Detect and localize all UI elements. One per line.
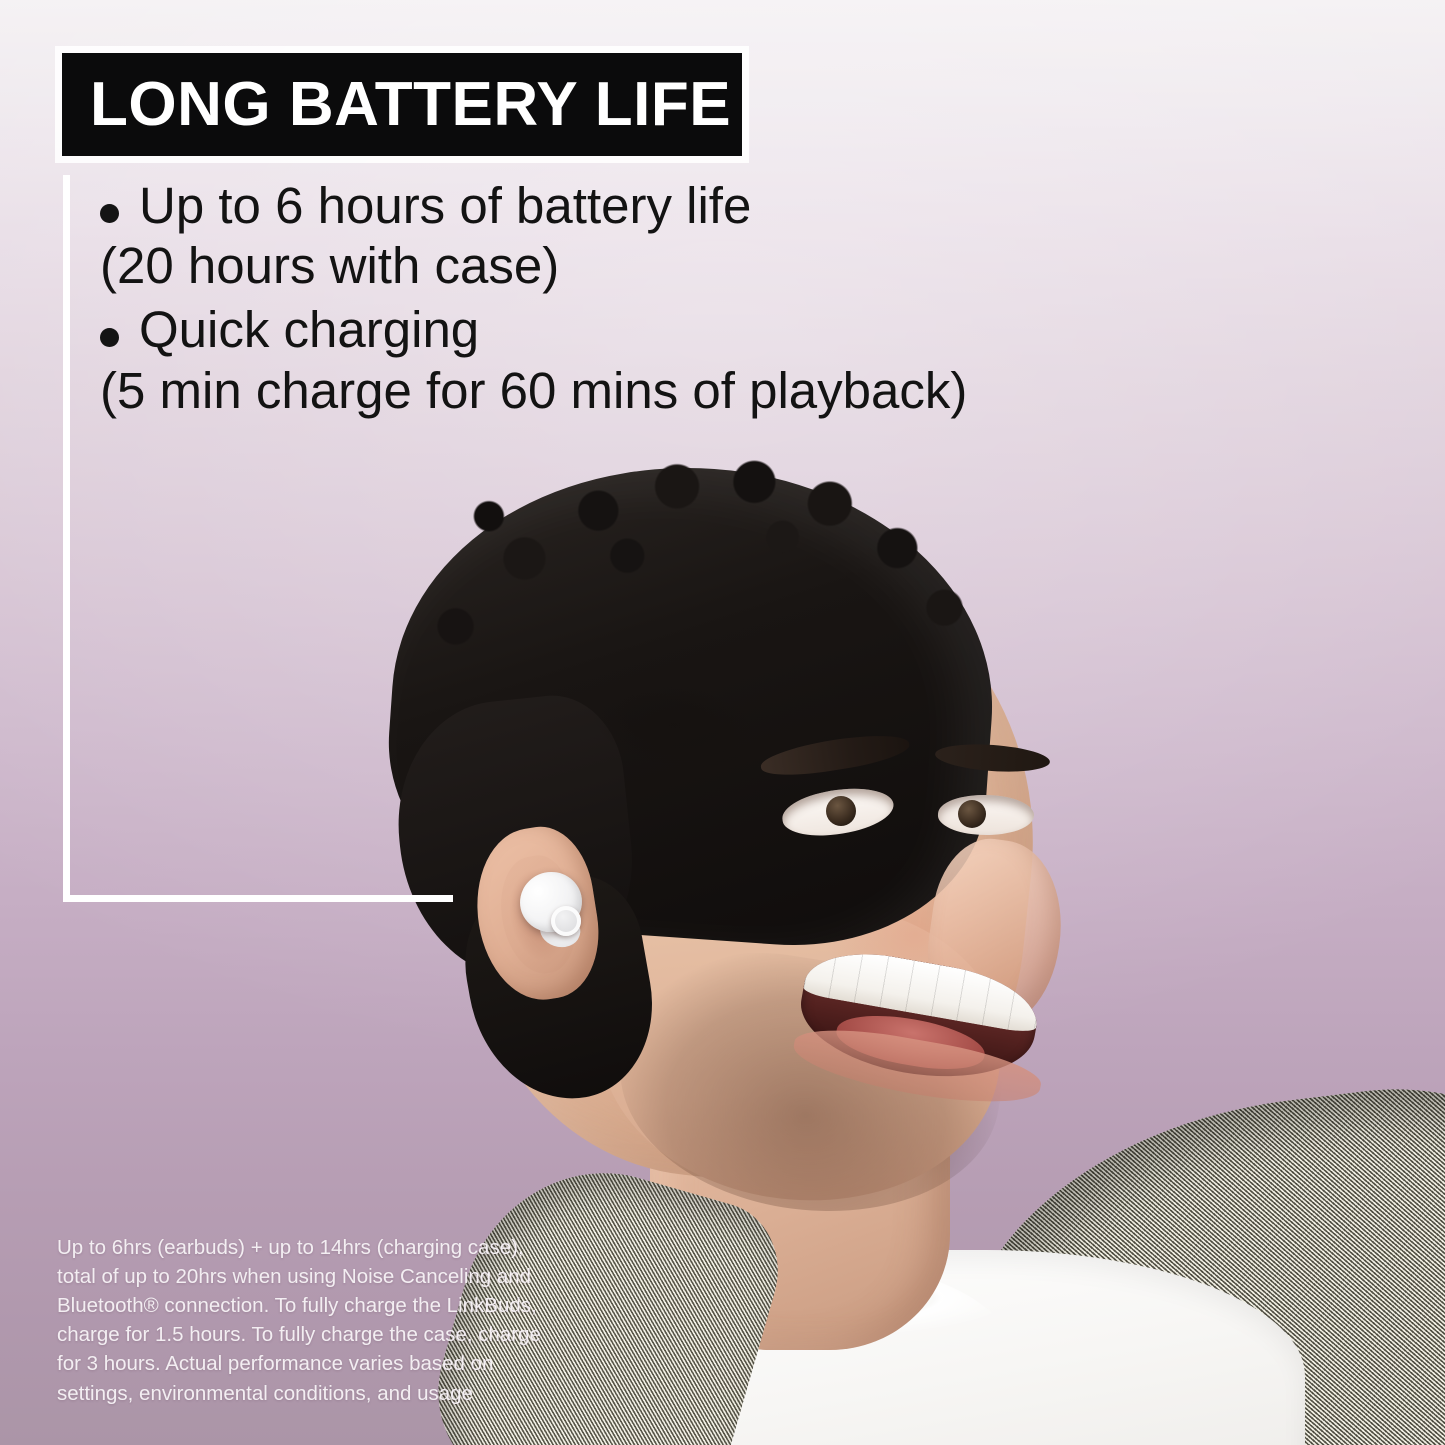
list-item: Up to 6 hours of battery life (20 hours … — [100, 176, 1300, 296]
list-item: Quick charging (5 min charge for 60 mins… — [100, 300, 1300, 420]
bullet-line-1: Up to 6 hours of battery life — [139, 177, 751, 234]
pupil-left — [826, 796, 856, 826]
bullet-text: Up to 6 hours of battery life (20 hours … — [139, 176, 751, 296]
feature-bullet-list: Up to 6 hours of battery life (20 hours … — [100, 176, 1300, 425]
pupil-right — [958, 800, 986, 828]
bullet-text: Quick charging (5 min charge for 60 mins… — [139, 300, 967, 420]
bullet-dot-icon — [100, 204, 119, 223]
headline-text: LONG BATTERY LIFE — [62, 74, 731, 136]
bullet-line-1: Quick charging — [139, 301, 479, 358]
earbud-open-ring-icon — [551, 906, 581, 936]
bullet-dot-icon — [100, 328, 119, 347]
bullet-line-2: (5 min charge for 60 mins of playback) — [100, 361, 967, 421]
bracket-vertical-rule — [63, 175, 70, 902]
product-feature-image: LONG BATTERY LIFE Up to 6 hours of batte… — [0, 0, 1445, 1445]
disclaimer-text: Up to 6hrs (earbuds) + up to 14hrs (char… — [57, 1233, 547, 1408]
bracket-horizontal-rule — [63, 895, 453, 902]
headline-banner: LONG BATTERY LIFE — [62, 53, 742, 156]
bullet-line-2: (20 hours with case) — [100, 236, 751, 296]
